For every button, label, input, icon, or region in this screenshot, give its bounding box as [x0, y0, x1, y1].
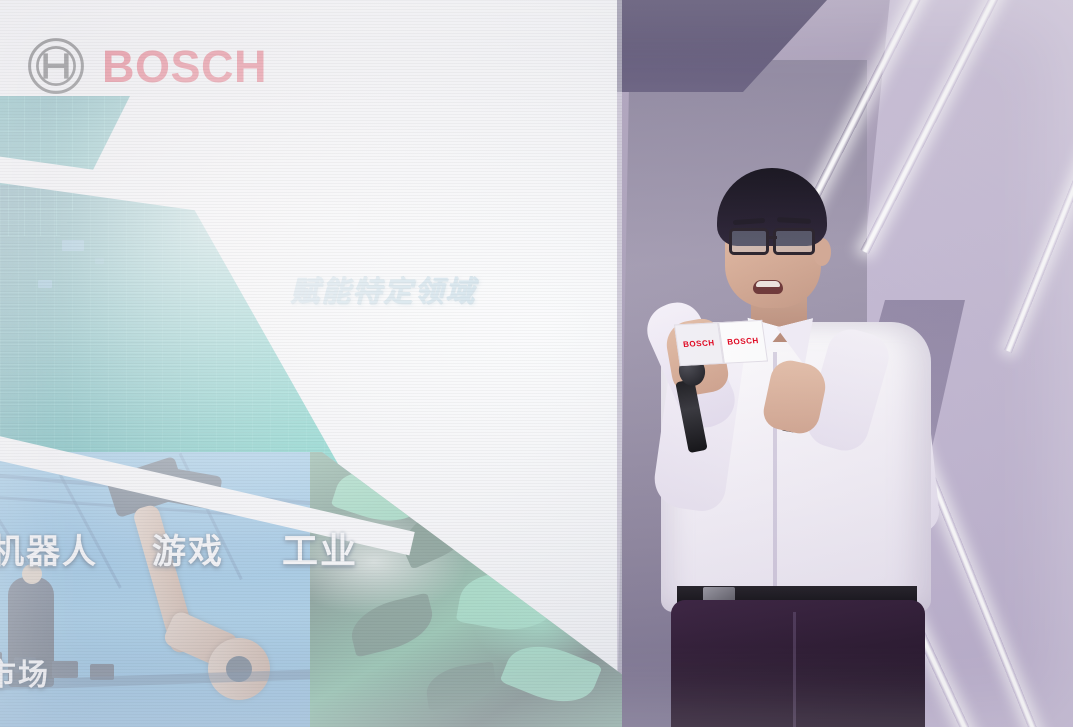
slide-label-game: 游戏	[152, 524, 224, 573]
bosch-armature-logo-icon	[26, 36, 86, 96]
slide-photo-band	[0, 452, 622, 727]
glasses-bridge	[767, 236, 777, 239]
glasses-lens-right	[773, 228, 815, 255]
stage-photograph: BOSCH 赋能特定领域	[0, 0, 1073, 727]
speaker-trousers	[671, 600, 925, 727]
slide-label-robot: 机器人	[0, 524, 98, 573]
mic-flag-face-right: BOSCH	[718, 320, 768, 364]
slide-headline: 赋能特定领域	[290, 268, 476, 310]
slide-label-industry: 工业	[282, 522, 358, 574]
circuit-chip	[38, 280, 52, 288]
glasses-lens-left	[729, 228, 769, 255]
mic-flag-wordmark: BOSCH	[683, 339, 716, 349]
trouser-crease	[793, 612, 796, 727]
speaker-figure: BOSCH BOSCH	[617, 0, 1073, 727]
circuit-chip	[62, 240, 84, 251]
slide-label-market: 市场	[0, 650, 50, 694]
mic-flag-wordmark: BOSCH	[727, 337, 760, 347]
projection-screen: BOSCH 赋能特定领域	[0, 0, 622, 727]
bosch-logo-lockup: BOSCH	[26, 36, 267, 96]
mic-flag-face-left: BOSCH	[674, 322, 724, 366]
photo-band-tint	[0, 452, 622, 727]
speaker-teeth	[756, 281, 780, 287]
circuit-chip	[95, 258, 104, 264]
microphone-branded-flag: BOSCH BOSCH	[674, 320, 768, 366]
circuit-pattern-main	[0, 185, 350, 485]
bosch-wordmark: BOSCH	[102, 44, 267, 89]
